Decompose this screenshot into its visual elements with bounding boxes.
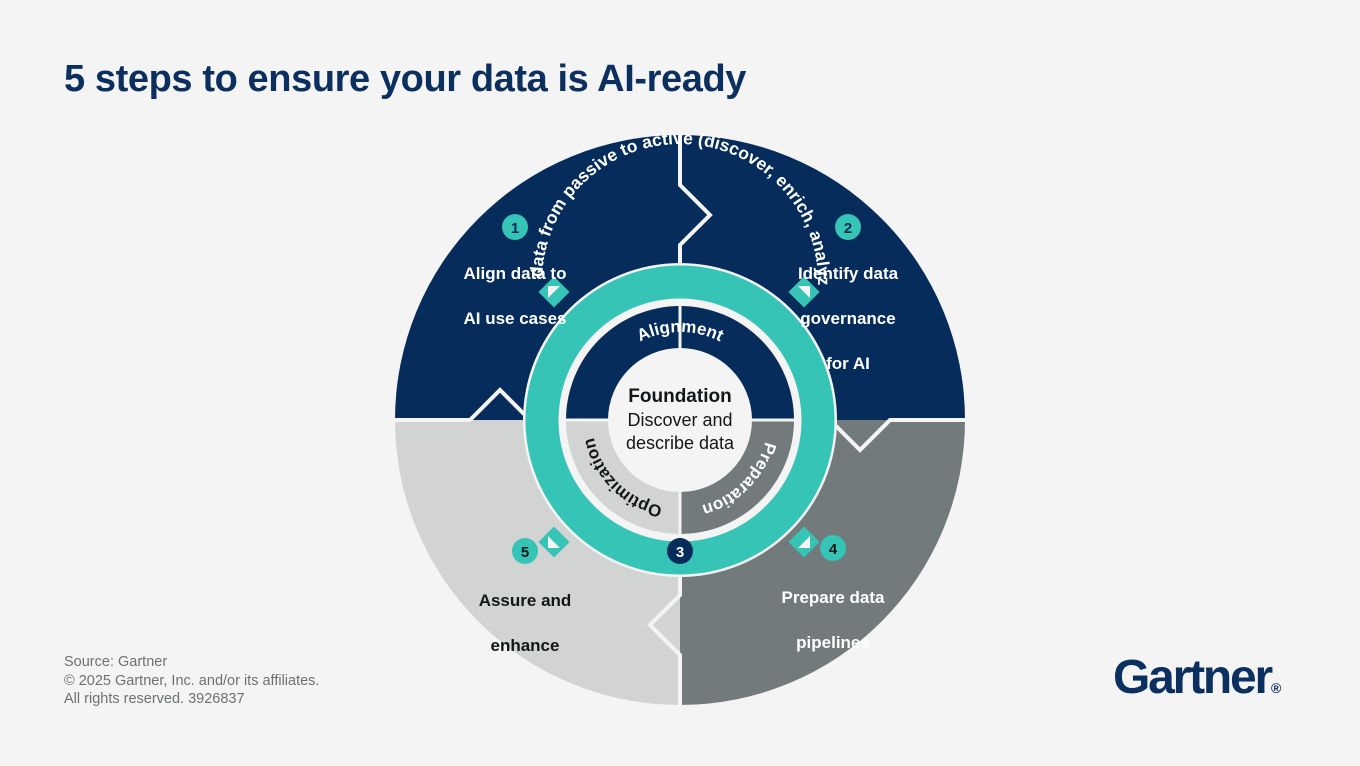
step-badge-4[interactable]: 4 bbox=[820, 535, 846, 561]
step-label-5[interactable]: Assure and enhance bbox=[435, 567, 615, 680]
footer-rights: All rights reserved. 3926837 bbox=[64, 690, 319, 709]
step-label-2-line2: governance bbox=[758, 308, 938, 331]
step-label-5-line1: Assure and bbox=[435, 590, 615, 613]
gartner-registered-mark: ® bbox=[1271, 680, 1281, 696]
step-badge-2[interactable]: 2 bbox=[835, 214, 861, 240]
step-badge-5[interactable]: 5 bbox=[512, 538, 538, 564]
center-subtitle-line2: describe data bbox=[585, 432, 775, 455]
step-badge-4-number: 4 bbox=[829, 541, 838, 558]
step-badge-2-number: 2 bbox=[844, 220, 852, 237]
step-badge-1-number: 1 bbox=[511, 220, 519, 237]
circular-process-diagram: Evolve metadata from passive to active (… bbox=[390, 130, 970, 710]
step-label-2[interactable]: Identify data governance for AI bbox=[758, 240, 938, 398]
step-label-1[interactable]: Align data to AI use cases bbox=[425, 240, 605, 353]
center-subtitle-line1: Discover and bbox=[585, 409, 775, 432]
footer: Source: Gartner © 2025 Gartner, Inc. and… bbox=[64, 653, 319, 709]
footer-copyright: © 2025 Gartner, Inc. and/or its affiliat… bbox=[64, 672, 319, 691]
step-label-5-line2: enhance bbox=[435, 635, 615, 658]
step-label-4-line1: Prepare data bbox=[743, 587, 923, 610]
step-label-4[interactable]: Prepare data pipelines bbox=[743, 564, 923, 677]
center-text-block: Foundation Discover and describe data bbox=[585, 385, 775, 455]
page-title: 5 steps to ensure your data is AI-ready bbox=[64, 58, 746, 101]
step-badge-1[interactable]: 1 bbox=[502, 214, 528, 240]
step-badge-5-number: 5 bbox=[521, 544, 529, 561]
step-label-1-line2: AI use cases bbox=[425, 308, 605, 331]
gartner-logo-text: Gartner bbox=[1113, 651, 1271, 704]
step-badge-3[interactable]: 3 bbox=[667, 538, 693, 564]
step-badge-3-number: 3 bbox=[676, 544, 684, 561]
footer-source: Source: Gartner bbox=[64, 653, 319, 672]
center-title: Foundation bbox=[585, 385, 775, 409]
step-label-4-line2: pipelines bbox=[743, 632, 923, 655]
gartner-logo: Gartner® bbox=[1113, 655, 1303, 701]
step-label-2-line1: Identify data bbox=[758, 263, 938, 286]
step-label-2-line3: for AI bbox=[758, 353, 938, 376]
step-label-1-line1: Align data to bbox=[425, 263, 605, 286]
